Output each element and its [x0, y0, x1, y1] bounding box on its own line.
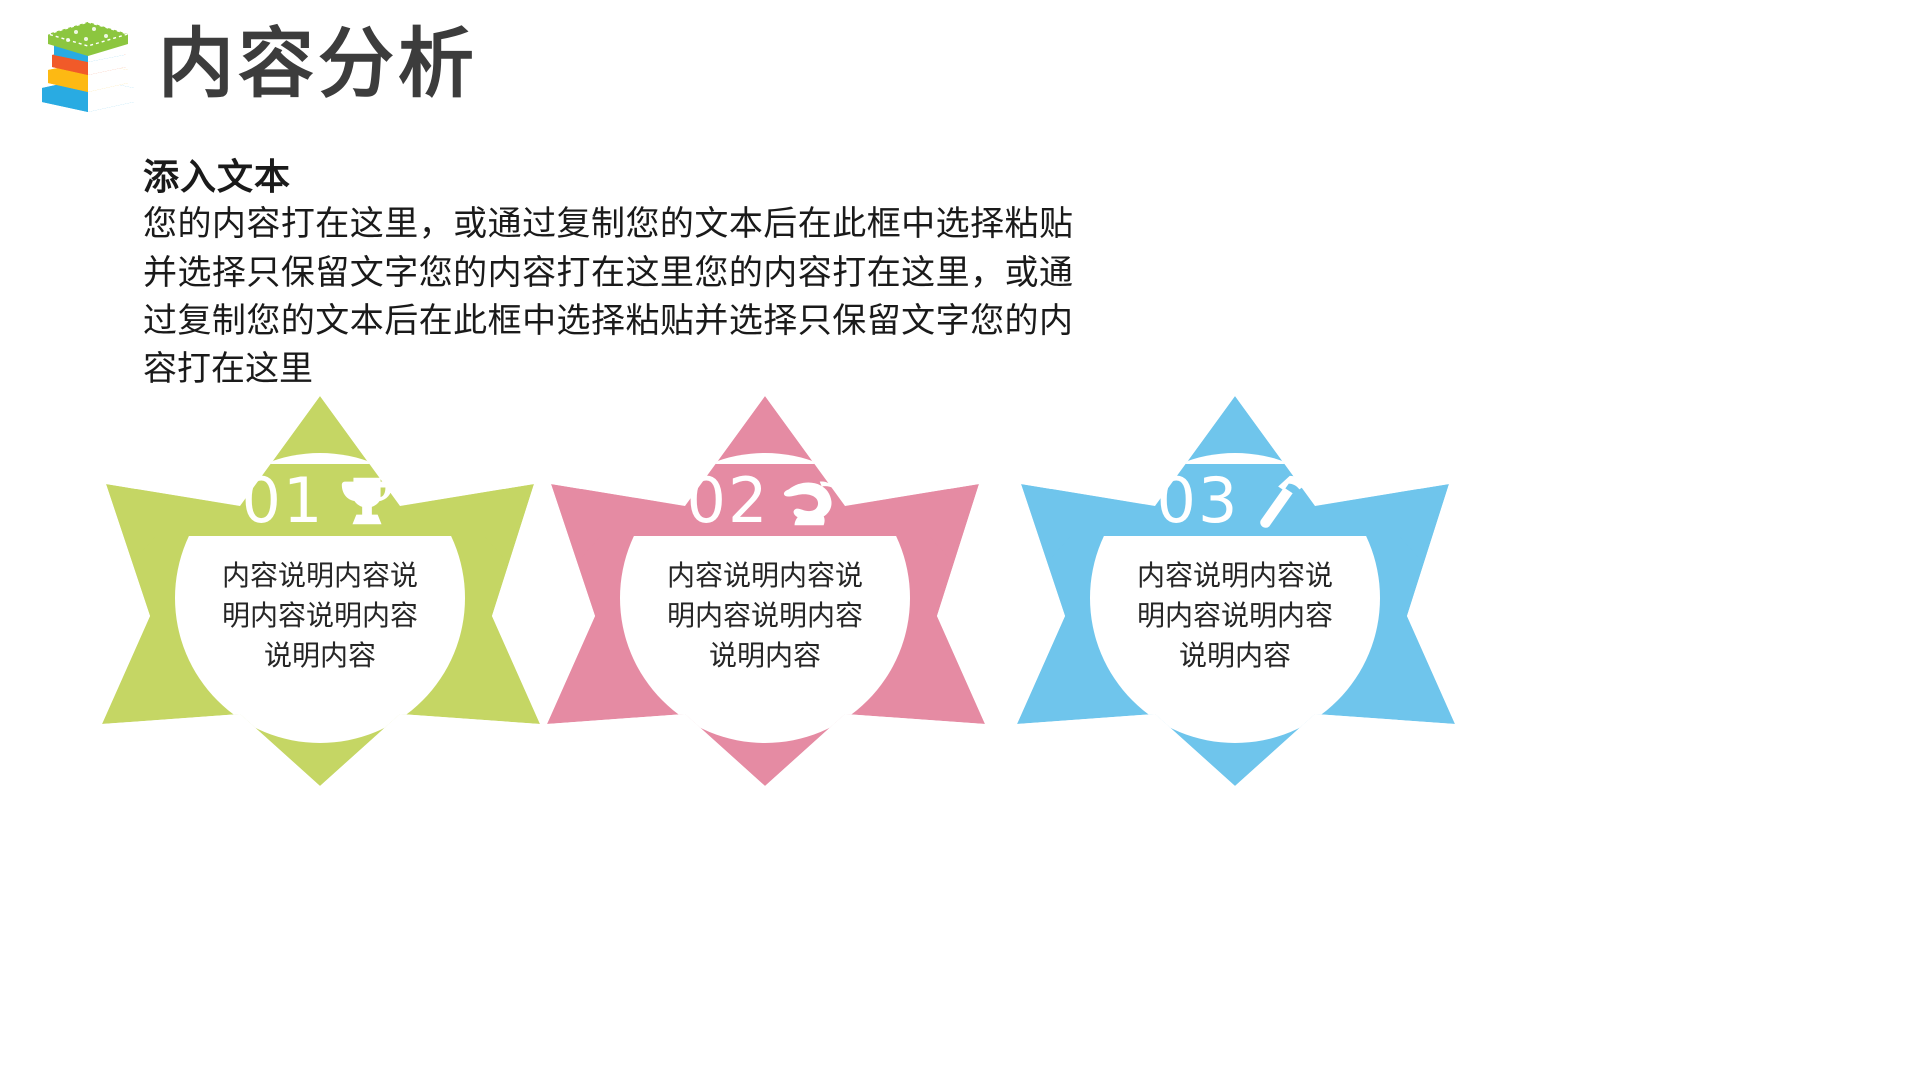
- slide: 内容分析 添入文本 您的内容打在这里，或通过复制您的文本后在此框中选择粘贴并选择…: [0, 0, 1920, 1080]
- badge-row: 01 内容说明内容说 明内容说明内容 说明内容: [0, 388, 1920, 788]
- badge-description-01: 内容说明内容说 明内容说明内容 说明内容: [172, 556, 468, 675]
- section-heading: 添入文本: [143, 158, 1073, 198]
- section-paragraph: 您的内容打在这里，或通过复制您的文本后在此框中选择粘贴并选择只保留文字您的内容打…: [143, 200, 1073, 393]
- badge-item-03[interactable]: 03 内容说明内容说 明内容说明内容 说明内容: [1015, 388, 1455, 788]
- page-title: 内容分析: [158, 26, 478, 102]
- badge-item-02[interactable]: 02 内容说明内容说 明内容说明内容 说明内容: [545, 388, 985, 788]
- content-text-block: 添入文本 您的内容打在这里，或通过复制您的文本后在此框中选择粘贴并选择只保留文字…: [143, 158, 1073, 393]
- badge-description-03: 内容说明内容说 明内容说明内容 说明内容: [1087, 556, 1383, 675]
- book-stack-icon: [30, 14, 142, 114]
- badge-item-01[interactable]: 01 内容说明内容说 明内容说明内容 说明内容: [100, 388, 540, 788]
- badge-description-02: 内容说明内容说 明内容说明内容 说明内容: [617, 556, 913, 675]
- slide-header: 内容分析: [30, 14, 478, 114]
